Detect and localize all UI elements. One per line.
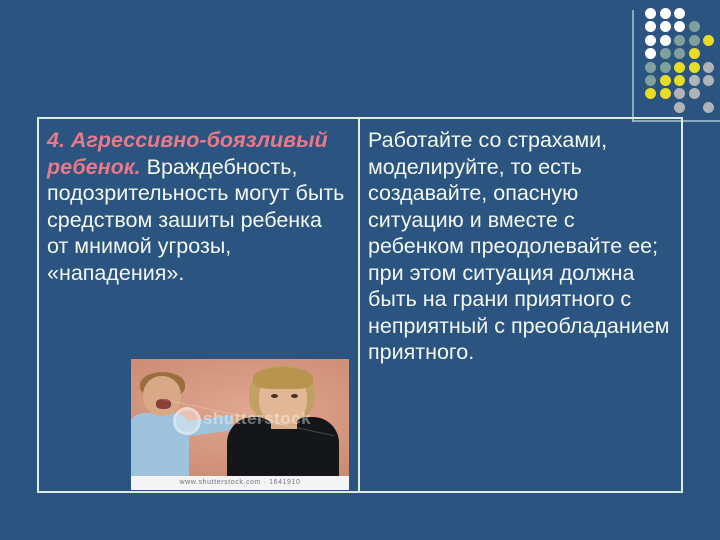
decorative-dot-teal bbox=[645, 62, 656, 73]
table-cell-problem: 4. Агрессивно-боязливый ребенок. Враждеб… bbox=[39, 119, 360, 491]
decorative-dot-gray bbox=[674, 102, 685, 113]
decorative-dot-yellow bbox=[703, 35, 714, 46]
table-cell-recommendation: Работайте со страхами, моделируйте, то е… bbox=[360, 119, 681, 491]
decorative-dot-white bbox=[645, 35, 656, 46]
decorative-dot-white bbox=[645, 48, 656, 59]
decorative-dot-white bbox=[645, 21, 656, 32]
content-table: 4. Агрессивно-боязливый ребенок. Враждеб… bbox=[37, 117, 683, 493]
decorative-dot-yellow bbox=[660, 88, 671, 99]
decorative-dot-yellow bbox=[660, 75, 671, 86]
decorative-dot-gray bbox=[703, 62, 714, 73]
decorative-dot-yellow bbox=[645, 88, 656, 99]
right-child-fringe bbox=[253, 367, 313, 389]
recommendation-body: Работайте со страхами, моделируйте, то е… bbox=[368, 128, 669, 364]
decorative-dot-gray bbox=[689, 88, 700, 99]
decorative-dot-yellow bbox=[674, 75, 685, 86]
decorative-dot-gray bbox=[689, 75, 700, 86]
decorative-dot-white bbox=[645, 8, 656, 19]
left-child-head bbox=[143, 376, 181, 416]
dot-grid-ornament bbox=[645, 8, 720, 113]
photo-caption: www.shutterstock.com · 1641910 bbox=[131, 476, 349, 490]
decorative-dot-teal bbox=[689, 21, 700, 32]
two-children-photo: shutterstock www.shutterstock.com · 1641… bbox=[131, 359, 349, 490]
right-child-eye-right bbox=[291, 394, 298, 398]
decorative-dot-gray bbox=[703, 75, 714, 86]
decorative-dot-yellow bbox=[674, 62, 685, 73]
decorative-dot-yellow bbox=[689, 48, 700, 59]
decorative-dot-teal bbox=[674, 35, 685, 46]
right-child-eye-left bbox=[271, 394, 278, 398]
shutterstock-logo-icon bbox=[173, 407, 201, 435]
decorative-dot-teal bbox=[689, 35, 700, 46]
decorative-dot-white bbox=[674, 8, 685, 19]
decorative-dot-yellow bbox=[689, 62, 700, 73]
decorative-dot-teal bbox=[660, 62, 671, 73]
watermark-text: shutterstock bbox=[203, 409, 311, 430]
decorative-vertical-line bbox=[632, 10, 634, 122]
decorative-dot-gray bbox=[674, 88, 685, 99]
decorative-dot-white bbox=[660, 35, 671, 46]
decorative-dot-white bbox=[674, 21, 685, 32]
decorative-dot-teal bbox=[674, 48, 685, 59]
decorative-dot-gray bbox=[703, 102, 714, 113]
decorative-dot-teal bbox=[645, 75, 656, 86]
slide-canvas: 4. Агрессивно-боязливый ребенок. Враждеб… bbox=[0, 0, 720, 540]
decorative-dot-white bbox=[660, 21, 671, 32]
decorative-dot-white bbox=[660, 8, 671, 19]
decorative-dot-teal bbox=[660, 48, 671, 59]
